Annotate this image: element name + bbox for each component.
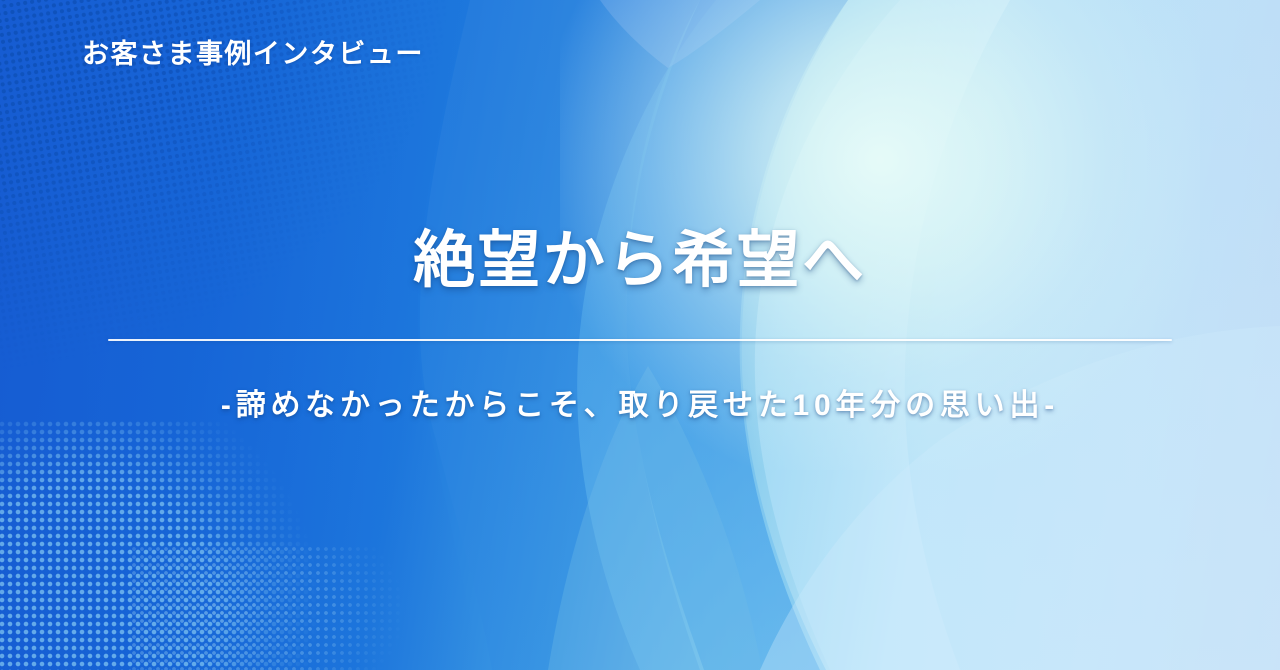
page-title: 絶望から希望へ: [0, 228, 1280, 295]
title-block: 絶望から希望へ: [0, 228, 1280, 295]
banner-content: お客さま事例インタビュー 絶望から希望へ -諦めなかったからこそ、取り戻せた10…: [0, 0, 1280, 670]
eyecatch-banner: お客さま事例インタビュー 絶望から希望へ -諦めなかったからこそ、取り戻せた10…: [0, 0, 1280, 670]
title-divider: [108, 339, 1172, 341]
page-subtitle: -諦めなかったからこそ、取り戻せた10年分の思い出-: [0, 386, 1280, 425]
kicker-label: お客さま事例インタビュー: [82, 38, 424, 70]
